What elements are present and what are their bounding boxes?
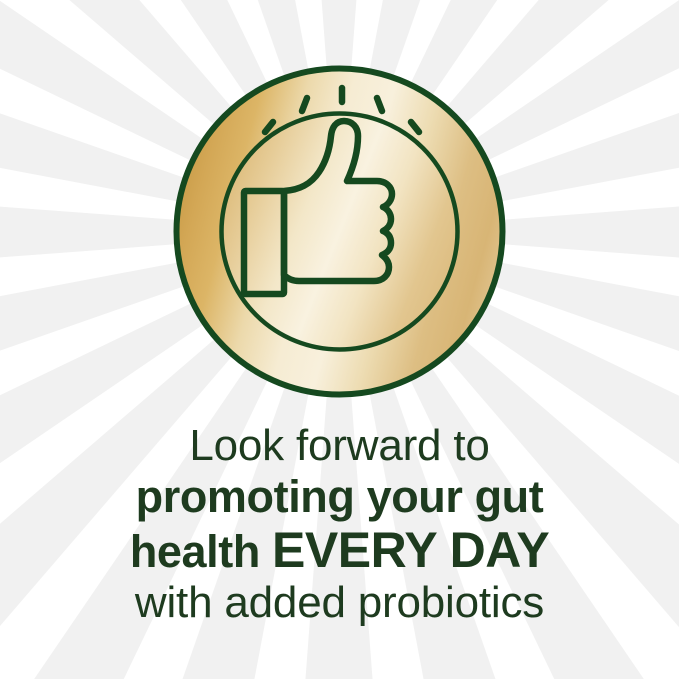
- headline-line-4: with added probiotics: [0, 581, 679, 625]
- headline-line-3: health EVERY DAY: [0, 525, 679, 575]
- medallion-inner-ring: [222, 114, 458, 350]
- headline-line-3-regular: health: [130, 526, 272, 577]
- headline-block: Look forward to promoting your gut healt…: [0, 424, 679, 625]
- headline-line-1: Look forward to: [0, 424, 679, 468]
- headline-line-2: promoting your gut: [0, 474, 679, 519]
- gold-medallion: [172, 64, 507, 399]
- promotional-graphic: Look forward to promoting your gut healt…: [0, 0, 679, 679]
- headline-line-3-emphasis: EVERY DAY: [272, 522, 549, 578]
